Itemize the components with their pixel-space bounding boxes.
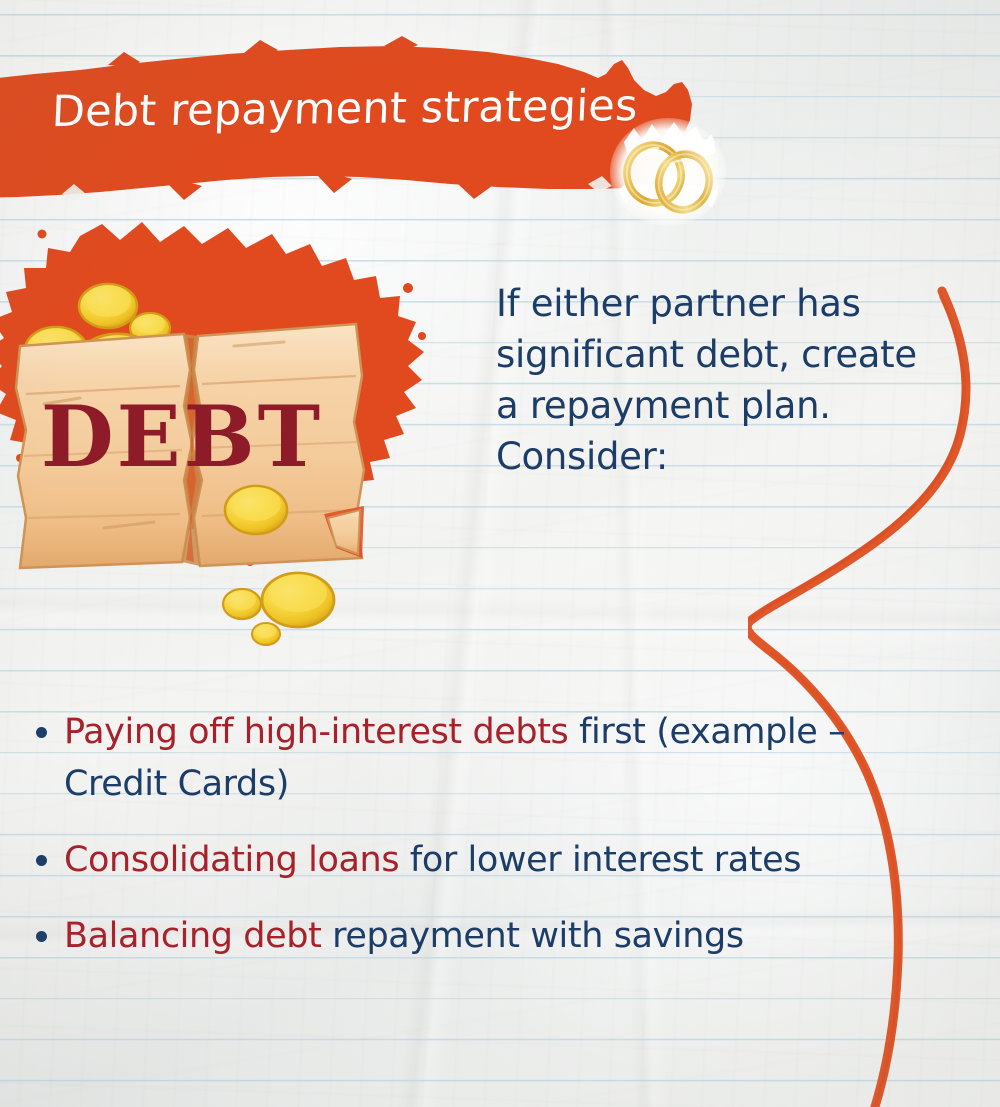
list-item: Paying off high-interest debts first (ex… bbox=[30, 706, 890, 810]
bullet-rest: for lower interest rates bbox=[399, 840, 801, 880]
bullet-highlight: Paying off high-interest debts bbox=[64, 712, 568, 752]
wedding-rings-icon bbox=[608, 112, 728, 230]
wooden-sign: DEBT bbox=[16, 324, 364, 568]
page-title: Debt repayment strategies bbox=[51, 85, 653, 134]
bullet-dot-icon bbox=[36, 855, 47, 866]
intro-paragraph: If either partner has significant debt, … bbox=[496, 278, 926, 482]
list-item: Consolidating loans for lower interest r… bbox=[30, 834, 890, 886]
debt-sign-illustration: DEBT bbox=[0, 218, 454, 668]
svg-text:DEBT: DEBT bbox=[41, 387, 323, 486]
infographic-canvas: Debt repayment strategies bbox=[0, 0, 1000, 1107]
list-item: Balancing debt repayment with savings bbox=[30, 910, 890, 962]
bullet-dot-icon bbox=[36, 931, 47, 942]
bullet-highlight: Balancing debt bbox=[64, 916, 321, 956]
bullet-rest: repayment with savings bbox=[321, 916, 743, 956]
strategy-bullet-list: Paying off high-interest debts first (ex… bbox=[30, 706, 890, 986]
bullet-highlight: Consolidating loans bbox=[64, 840, 399, 880]
bullet-dot-icon bbox=[36, 727, 47, 738]
